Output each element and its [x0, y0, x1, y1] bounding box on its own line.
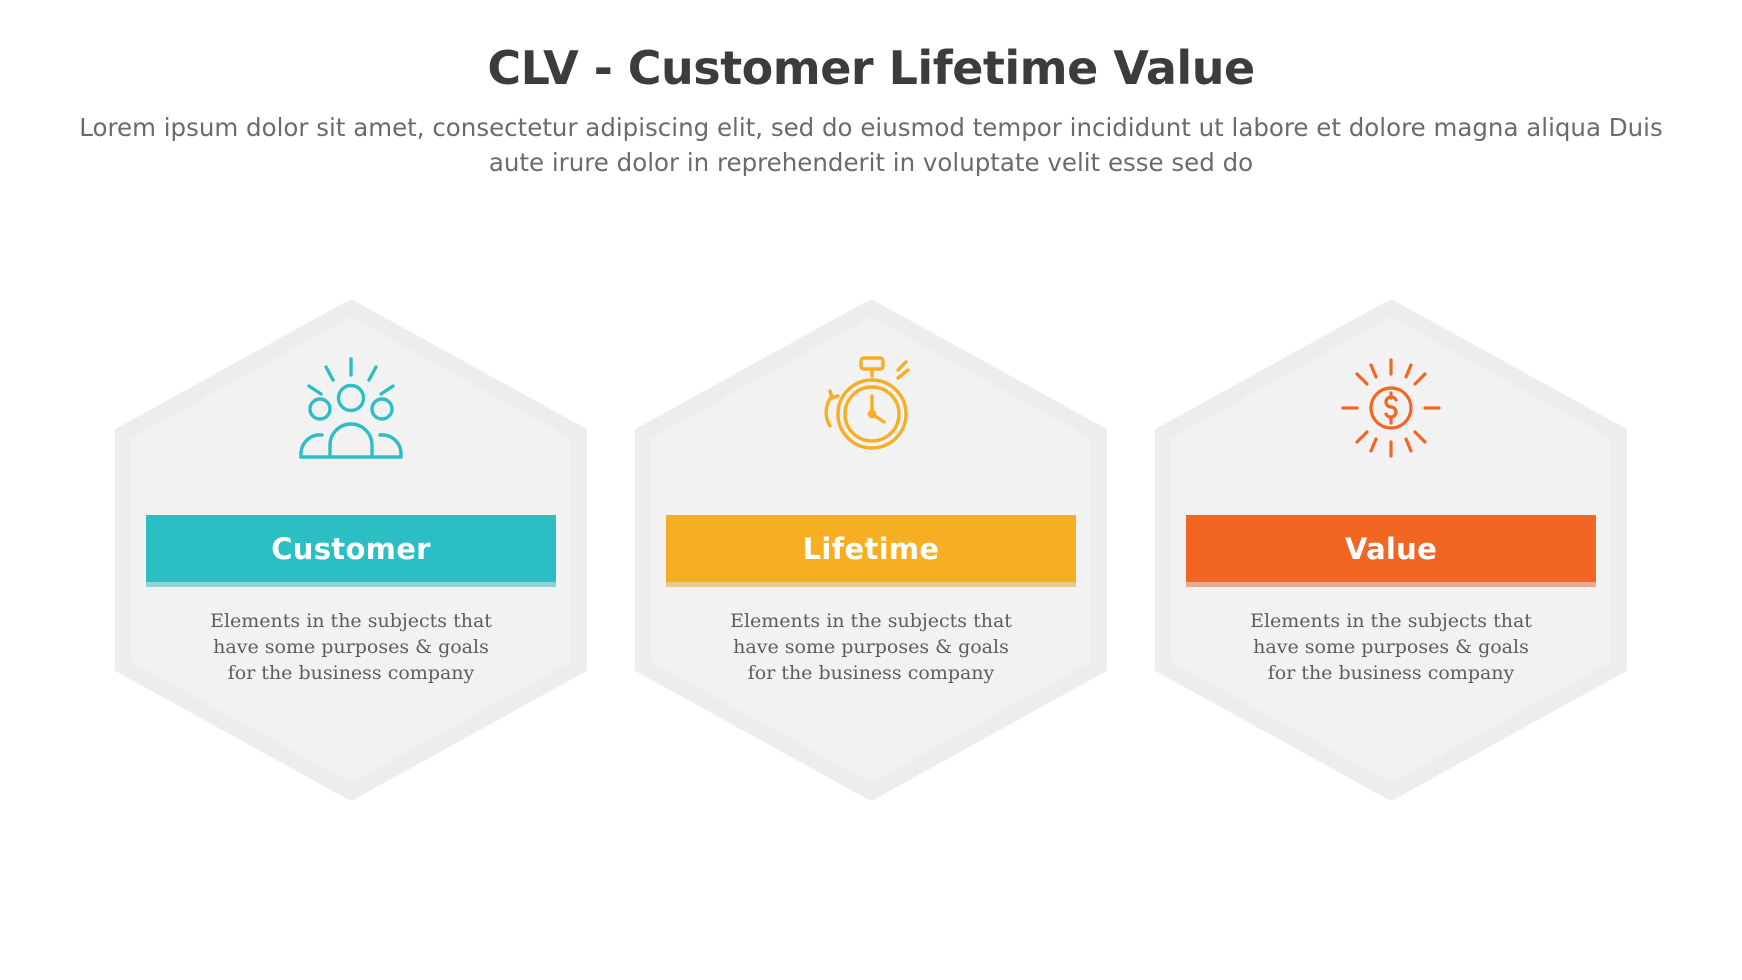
card-description: Elements in the subjects that have some …: [721, 608, 1021, 687]
card-customer[interactable]: Customer Elements in the subjects that h…: [115, 300, 587, 800]
cards-row: Customer Elements in the subjects that h…: [0, 300, 1742, 820]
stopwatch-refresh-icon: [635, 300, 1107, 515]
page-subtitle: Lorem ipsum dolor sit amet, consectetur …: [71, 111, 1671, 181]
band-customer: Customer: [146, 515, 556, 582]
card-value[interactable]: Value Elements in the subjects that have…: [1155, 300, 1627, 800]
header: CLV - Customer Lifetime Value Lorem ipsu…: [0, 0, 1742, 180]
card-description: Elements in the subjects that have some …: [201, 608, 501, 687]
band-lifetime: Lifetime: [666, 515, 1076, 582]
infographic-page: CLV - Customer Lifetime Value Lorem ipsu…: [0, 0, 1742, 980]
card-label: Value: [1345, 532, 1437, 566]
dollar-coin-shine-icon: [1155, 300, 1627, 515]
card-lifetime[interactable]: Lifetime Elements in the subjects that h…: [635, 300, 1107, 800]
card-description: Elements in the subjects that have some …: [1241, 608, 1541, 687]
card-label: Lifetime: [803, 532, 940, 566]
card-label: Customer: [271, 532, 431, 566]
people-group-icon: [115, 300, 587, 515]
band-value: Value: [1186, 515, 1596, 582]
page-title: CLV - Customer Lifetime Value: [0, 42, 1742, 95]
